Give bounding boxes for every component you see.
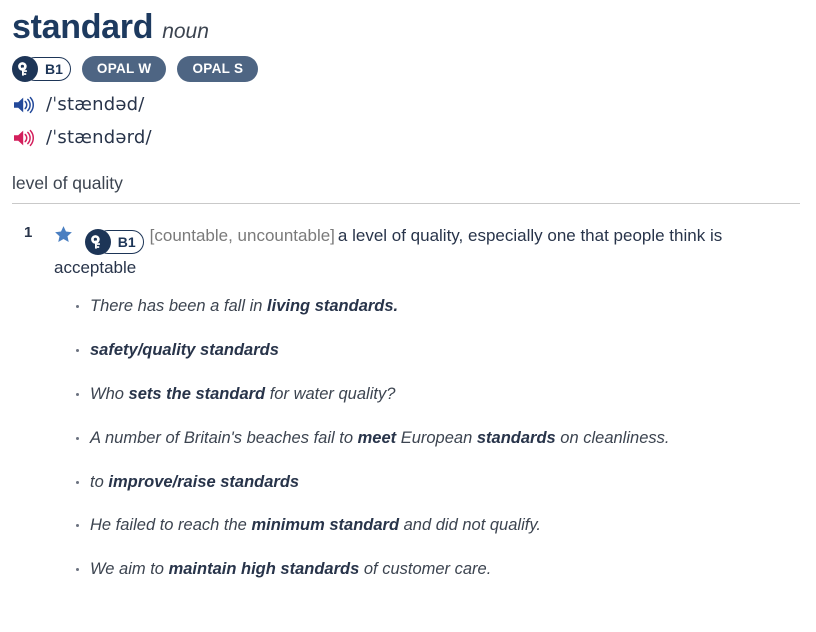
example-collocation: living standards. xyxy=(267,297,398,315)
phonetic-close-slash: / xyxy=(146,127,152,148)
example-text: We aim to xyxy=(90,560,169,578)
example-item: There has been a fall in living standard… xyxy=(76,295,800,319)
phonetic-british: /ˈstændəd/ xyxy=(46,94,145,115)
example-collocation: minimum standard xyxy=(251,516,399,534)
sense-section-heading: level of quality xyxy=(12,173,800,204)
phonetic-ipa: ˈstændərd xyxy=(52,127,145,148)
part-of-speech: noun xyxy=(162,20,209,44)
example-text: Who xyxy=(90,385,129,403)
badge-row: B1 OPAL W OPAL S xyxy=(12,56,800,82)
opal-s-badge[interactable]: OPAL S xyxy=(177,56,258,82)
example-text: European xyxy=(396,429,477,447)
dictionary-entry: standard noun B1 OPAL W OPAL S xyxy=(0,0,816,582)
example-text: A number of Britain's beaches fail to xyxy=(90,429,358,447)
example-item: safety/quality standards xyxy=(76,339,800,363)
example-item: to improve/raise standards xyxy=(76,471,800,495)
pronunciation-british[interactable]: /ˈstændəd/ xyxy=(12,92,800,118)
speaker-icon[interactable] xyxy=(12,127,38,149)
phonetic-ipa: ˈstændəd xyxy=(52,94,138,115)
sense-block: 1 B1 xyxy=(12,223,800,583)
example-collocation: standards xyxy=(477,429,556,447)
example-text: He failed to reach the xyxy=(90,516,251,534)
example-text: on cleanliness. xyxy=(556,429,670,447)
sense-number: 1 xyxy=(24,224,32,241)
headword-row: standard noun xyxy=(12,6,800,49)
example-item: Who sets the standard for water quality? xyxy=(76,383,800,407)
example-item: A number of Britain's beaches fail to me… xyxy=(76,427,800,451)
speaker-icon[interactable] xyxy=(12,94,38,116)
phonetic-close-slash: / xyxy=(138,94,144,115)
example-text: and did not qualify. xyxy=(399,516,541,534)
cefr-level-badge[interactable]: B1 xyxy=(85,229,144,255)
example-collocation: maintain high standards xyxy=(169,560,360,578)
opal-w-badge[interactable]: OPAL W xyxy=(82,56,167,82)
pronunciation-american[interactable]: /ˈstændərd/ xyxy=(12,125,800,151)
cefr-level-label: B1 xyxy=(45,62,63,76)
example-item: He failed to reach the minimum standard … xyxy=(76,514,800,538)
example-text: for water quality? xyxy=(265,385,395,403)
example-collocation: meet xyxy=(358,429,397,447)
star-icon xyxy=(54,225,73,252)
example-collocation: sets the standard xyxy=(129,385,266,403)
sense-header: B1 [countable, uncountable]a level of qu… xyxy=(54,223,800,281)
example-text: of customer care. xyxy=(359,560,491,578)
example-text: There has been a fall in xyxy=(90,297,267,315)
phonetic-american: /ˈstændərd/ xyxy=(46,127,152,148)
cefr-level-badge[interactable]: B1 xyxy=(12,56,71,82)
example-collocation: safety/quality standards xyxy=(90,341,279,359)
example-list: There has been a fall in living standard… xyxy=(54,295,800,582)
example-item: We aim to maintain high standards of cus… xyxy=(76,558,800,582)
key-icon xyxy=(12,56,38,82)
example-collocation: improve/raise standards xyxy=(108,473,299,491)
example-text: to xyxy=(90,473,108,491)
cefr-level-label: B1 xyxy=(118,235,136,249)
grammar-label: [countable, uncountable] xyxy=(150,226,335,245)
headword: standard xyxy=(12,6,153,49)
key-icon xyxy=(85,229,111,255)
